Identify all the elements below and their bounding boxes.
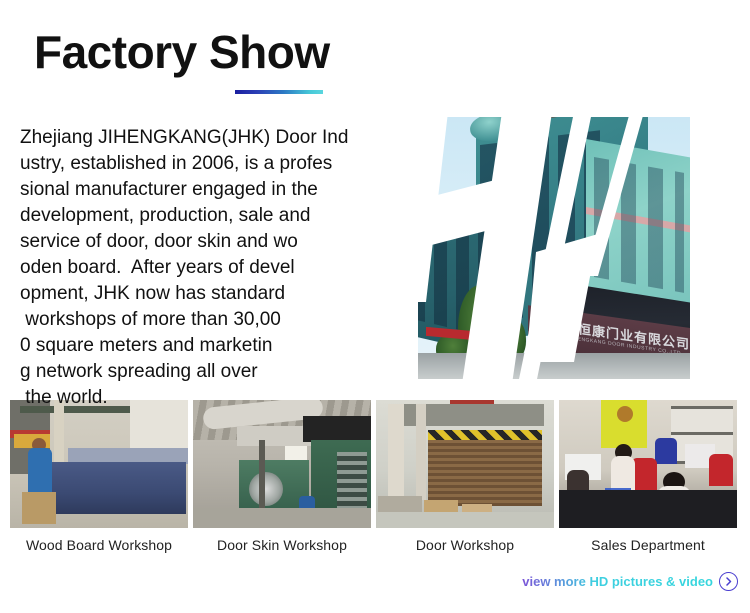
sales-department-photo[interactable] xyxy=(559,400,737,528)
gallery-caption: Wood Board Workshop xyxy=(10,537,188,553)
gallery-item[interactable]: Wood Board Workshop xyxy=(10,400,188,553)
view-more-link[interactable]: view more HD pictures & video xyxy=(522,572,738,591)
gallery-strip: Wood Board Workshop Door Skin Workshop D… xyxy=(10,400,740,553)
building-right-windows xyxy=(594,157,684,293)
door-skin-workshop-photo[interactable] xyxy=(193,400,371,528)
gallery-caption: Sales Department xyxy=(559,537,737,553)
title-accent-rule xyxy=(235,90,323,94)
factory-building-photo: 浙江基恒康门业有限公司 ZHEJIANG JIHENGKANG DOOR IND… xyxy=(418,117,690,379)
ground-pavement xyxy=(418,353,690,379)
wood-board-workshop-photo[interactable] xyxy=(10,400,188,528)
view-more-label: view more HD pictures & video xyxy=(522,574,713,589)
chevron-right-circle-icon[interactable] xyxy=(719,572,738,591)
gallery-item[interactable]: Door Skin Workshop xyxy=(193,400,371,553)
gallery-item[interactable]: Door Workshop xyxy=(376,400,554,553)
page-header: Factory Show xyxy=(34,28,434,76)
page-title: Factory Show xyxy=(34,28,434,76)
gallery-caption: Door Workshop xyxy=(376,537,554,553)
door-workshop-photo[interactable] xyxy=(376,400,554,528)
company-intro-paragraph: Zhejiang JIHENGKANG(JHK) Door Ind ustry,… xyxy=(20,125,440,411)
gallery-item[interactable]: Sales Department xyxy=(559,400,737,553)
gallery-caption: Door Skin Workshop xyxy=(193,537,371,553)
